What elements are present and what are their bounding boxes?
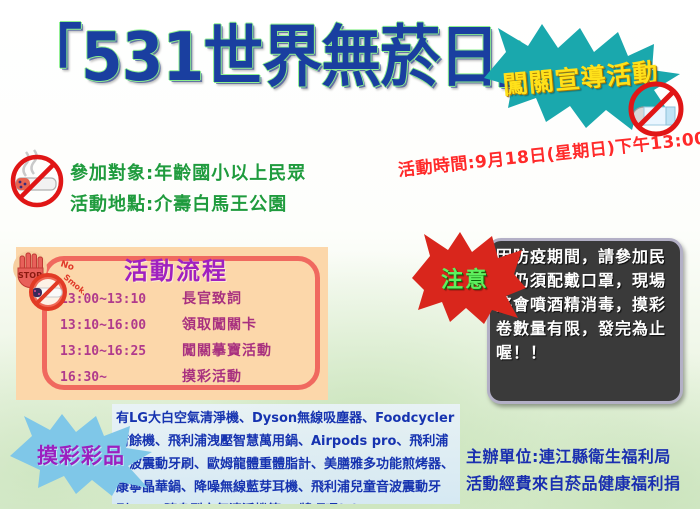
svg-text:No: No — [59, 259, 75, 273]
prize-badge-label: 摸彩彩品 — [8, 412, 154, 498]
schedule-heading: 活動流程 — [96, 251, 256, 286]
notice-badge-label: 注意 — [406, 230, 524, 326]
poster-title: 「531世界無菸日」 — [22, 6, 492, 98]
organizer-funding-line: 活動經費來自菸品健康福利捐 — [466, 470, 700, 497]
prize-badge: 摸彩彩品 — [8, 412, 154, 498]
no-smoking-icon — [6, 148, 70, 208]
prize-list-text: 有LG大白空氣清淨機、Dyson無線吸塵器、Foodcycler廚餘機、飛利浦洩… — [112, 404, 460, 504]
stop-hand-no-smoking-icon: STOP No Smoking — [6, 248, 84, 314]
organizer-line: 主辦單位:連江縣衛生福利局 — [466, 443, 700, 470]
schedule-rows: 13:00~13:10 長官致詞 13:10~16:00 領取闖關卡 13:10… — [60, 288, 316, 392]
notice-badge: 注意 — [408, 230, 526, 326]
event-info-block: 參加對象:年齡國小以上民眾 活動地點:介壽白馬王公園 — [70, 158, 410, 220]
schedule-activity: 摸彩活動 — [168, 366, 242, 386]
schedule-row: 13:10~16:25 闖關摹寶活動 — [60, 340, 316, 366]
schedule-row: 13:10~16:00 領取闖關卡 — [60, 314, 316, 340]
schedule-time: 13:10~16:25 — [60, 344, 168, 359]
schedule-activity: 長官致詞 — [168, 288, 242, 308]
schedule-row: 16:30~ 摸彩活動 — [60, 366, 316, 392]
schedule-time: 13:10~16:00 — [60, 318, 168, 333]
schedule-time: 16:30~ — [60, 370, 168, 385]
schedule-activity: 闖關摹寶活動 — [168, 340, 272, 360]
schedule-activity: 領取闖關卡 — [168, 314, 257, 334]
organizer-block: 主辦單位:連江縣衛生福利局 活動經費來自菸品健康福利捐 — [466, 443, 700, 497]
page-title: 「531世界無菸日」 — [22, 6, 492, 109]
audience-line: 參加對象:年齡國小以上民眾 — [70, 158, 410, 189]
poster-canvas: 「531世界無菸日」 闖關宣導活動 — [0, 0, 700, 509]
schedule-row: 13:00~13:10 長官致詞 — [60, 288, 316, 314]
location-line: 活動地點:介壽白馬王公園 — [70, 189, 410, 220]
